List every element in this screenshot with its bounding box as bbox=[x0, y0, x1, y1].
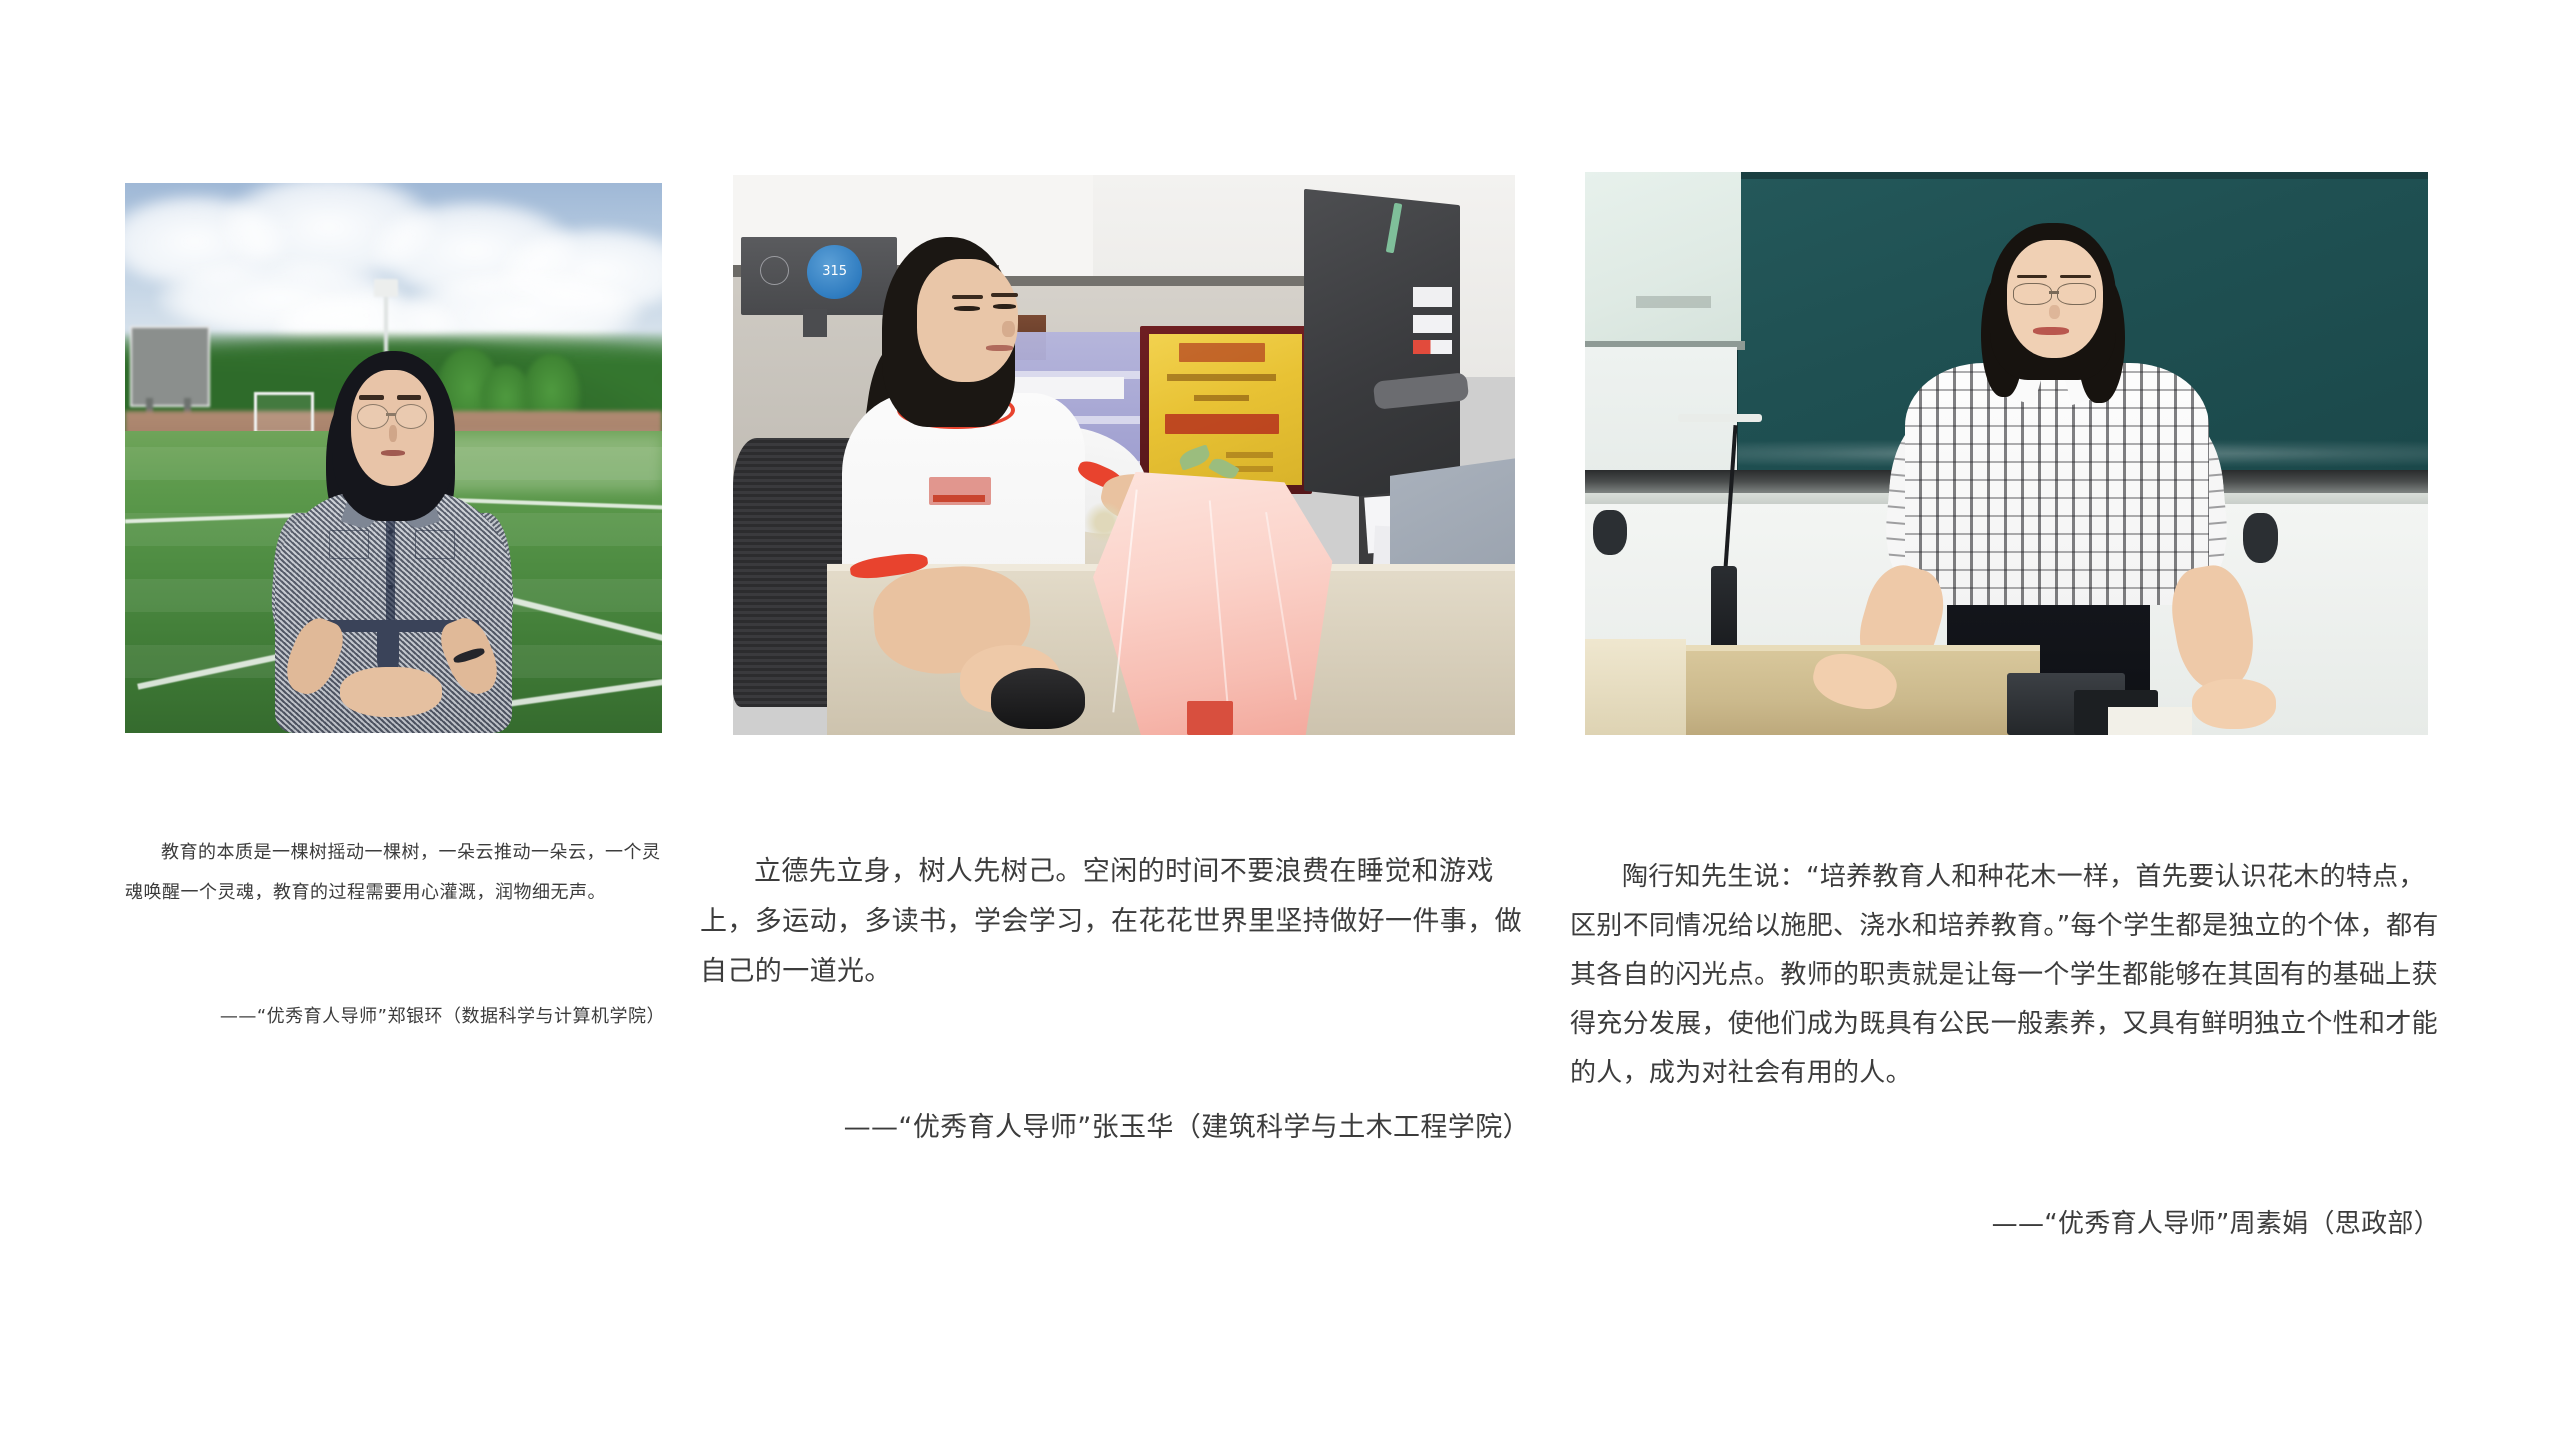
wall-hook-right bbox=[2243, 513, 2278, 564]
plaque-text-line bbox=[1167, 374, 1276, 380]
quote-text-2: 立德先立身，树人先树己。空闲的时间不要浪费在睡觉和游戏上，多运动，多读书，学会学… bbox=[700, 847, 1540, 997]
monitor-sticker bbox=[1413, 287, 1452, 307]
chest-pocket-right bbox=[415, 530, 455, 560]
button-placket bbox=[386, 508, 395, 629]
blouse bbox=[1905, 363, 2208, 605]
eyeglasses-bridge bbox=[2049, 291, 2058, 293]
quote-text-1: 教育的本质是一棵树摇动一棵树，一朵云推动一朵云，一个灵魂唤醒一个灵魂，教育的过程… bbox=[125, 833, 665, 913]
photo-2-scene: 315 bbox=[733, 175, 1515, 735]
hand-right bbox=[2192, 679, 2276, 730]
caption-block-2: 立德先立身，树人先树己。空闲的时间不要浪费在睡觉和游戏上，多运动，多读书，学会学… bbox=[700, 747, 1540, 1253]
scoreboard bbox=[130, 326, 209, 407]
nose bbox=[1002, 321, 1015, 338]
teacher-photo-2: 315 bbox=[733, 175, 1515, 735]
dress-button bbox=[388, 557, 393, 562]
eyebrow-left bbox=[2017, 275, 2047, 278]
eyebrow-right bbox=[397, 395, 422, 399]
bouquet-ribbon bbox=[1187, 701, 1234, 735]
face bbox=[917, 259, 1019, 382]
eyebrow-left bbox=[359, 395, 384, 399]
eyebrow-right bbox=[991, 293, 1018, 297]
nose bbox=[389, 425, 398, 442]
eyebrow-left bbox=[952, 295, 983, 299]
cubicle-panel-trim bbox=[968, 276, 1343, 286]
eyeglasses-lens-right bbox=[2057, 283, 2096, 304]
photo-1-scene bbox=[125, 183, 662, 733]
computer-mouse bbox=[991, 668, 1085, 730]
dell-logo-icon bbox=[760, 256, 789, 285]
clasped-hands bbox=[340, 667, 442, 717]
eye-right bbox=[993, 304, 1016, 309]
teacher-photo-1 bbox=[125, 183, 662, 733]
projection-screen bbox=[1585, 172, 1741, 341]
teacher-photo-3 bbox=[1585, 172, 2428, 735]
caption-block-1: 教育的本质是一棵树摇动一棵树，一朵云推动一朵云，一个灵魂唤醒一个灵魂，教育的过程… bbox=[125, 753, 665, 1117]
mouth bbox=[2033, 327, 2068, 335]
eyeglasses-lens-right bbox=[395, 404, 427, 429]
asset-number-badge: 315 bbox=[807, 245, 862, 299]
projected-text bbox=[1636, 296, 1712, 308]
light-fixture bbox=[374, 279, 398, 297]
eyeglasses-lens-left bbox=[2013, 283, 2052, 304]
lecture-notes bbox=[2108, 707, 2192, 735]
chest-pocket-left bbox=[329, 530, 369, 560]
eyebrow-right bbox=[2060, 275, 2090, 278]
quote-text-3: 陶行知先生说：“培养教育人和种花木一样，首先要认识花木的特点，区别不同情况给以施… bbox=[1570, 853, 2450, 1098]
plaque-institution-header bbox=[1179, 343, 1265, 362]
attribution-text-3: ——“优秀育人导师”周素娟（思政部） bbox=[1570, 1200, 2450, 1249]
monitor-sticker bbox=[1413, 340, 1452, 353]
eye-left bbox=[954, 306, 981, 311]
monitor-sticker bbox=[1413, 315, 1452, 333]
whiteboard-strip bbox=[1678, 414, 1762, 422]
soccer-goal bbox=[254, 392, 314, 434]
plaque-text-line bbox=[1226, 452, 1273, 458]
chalkboard-frame-top bbox=[1737, 172, 2428, 179]
lectern-side bbox=[1585, 639, 1686, 735]
caption-block-3: 陶行知先生说：“培养教育人和种花木一样，首先要认识花木的特点，区别不同情况给以施… bbox=[1570, 755, 2450, 1347]
document-page: 教育的本质是一棵树摇动一棵树，一朵云推动一朵云，一个灵魂唤醒一个灵魂，教育的过程… bbox=[0, 0, 2560, 1440]
photo-3-scene bbox=[1585, 172, 2428, 735]
monitor-stand bbox=[803, 309, 826, 337]
wall-hook-left bbox=[1593, 510, 1627, 555]
mouth bbox=[986, 345, 1013, 351]
plaque-title-text bbox=[1165, 414, 1279, 434]
attribution-text-2: ——“优秀育人导师”张玉华（建筑科学与土木工程学院） bbox=[700, 1103, 1540, 1153]
plaque-text-line bbox=[1194, 395, 1249, 401]
attribution-text-1: ——“优秀育人导师”郑银环（数据科学与计算机学院） bbox=[125, 997, 665, 1037]
eyeglasses-bridge bbox=[386, 413, 396, 416]
shirt-logo-bar bbox=[933, 495, 985, 502]
